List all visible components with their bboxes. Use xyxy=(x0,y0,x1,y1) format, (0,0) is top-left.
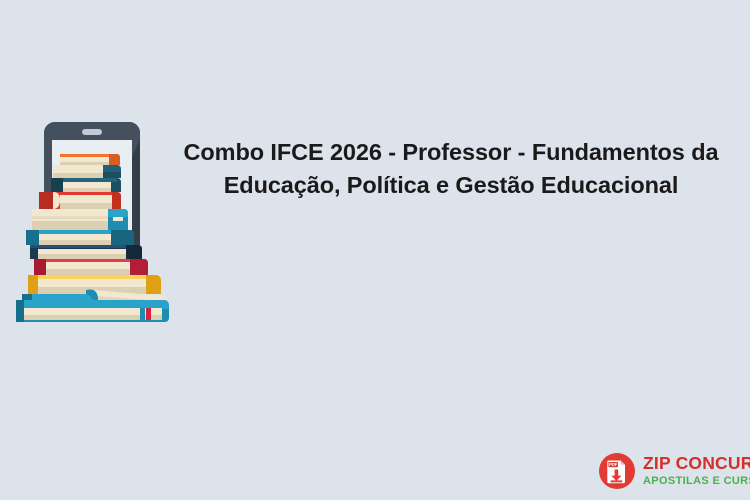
book-cream-upper xyxy=(53,165,121,178)
product-banner: Combo IFCE 2026 - Professor - Fundamento… xyxy=(0,0,750,500)
book-navy-dark xyxy=(30,245,142,259)
brand-name: ZIP CONCURSOS xyxy=(643,455,750,473)
stack-of-books-on-tablet-illustration xyxy=(8,118,176,323)
page-title: Combo IFCE 2026 - Professor - Fundamento… xyxy=(168,136,734,202)
book-teal-mid xyxy=(26,230,134,245)
pdf-download-icon: PDF xyxy=(598,452,636,490)
brand-tagline: APOSTILAS E CURSOS xyxy=(643,476,750,487)
book-orange-top xyxy=(60,154,120,165)
book-crimson xyxy=(34,259,148,275)
book-red-upper xyxy=(39,192,121,209)
svg-text:PDF: PDF xyxy=(609,462,618,467)
book-navy-upper xyxy=(51,178,121,192)
brand-wordmark: ZIP CONCURSOS APOSTILAS E CURSOS xyxy=(643,455,750,487)
book-cream-big xyxy=(32,209,128,230)
brand-logo[interactable]: PDF ZIP CONCURSOS APOSTILAS E CURSOS xyxy=(598,449,746,493)
book-base-teal xyxy=(16,300,169,322)
